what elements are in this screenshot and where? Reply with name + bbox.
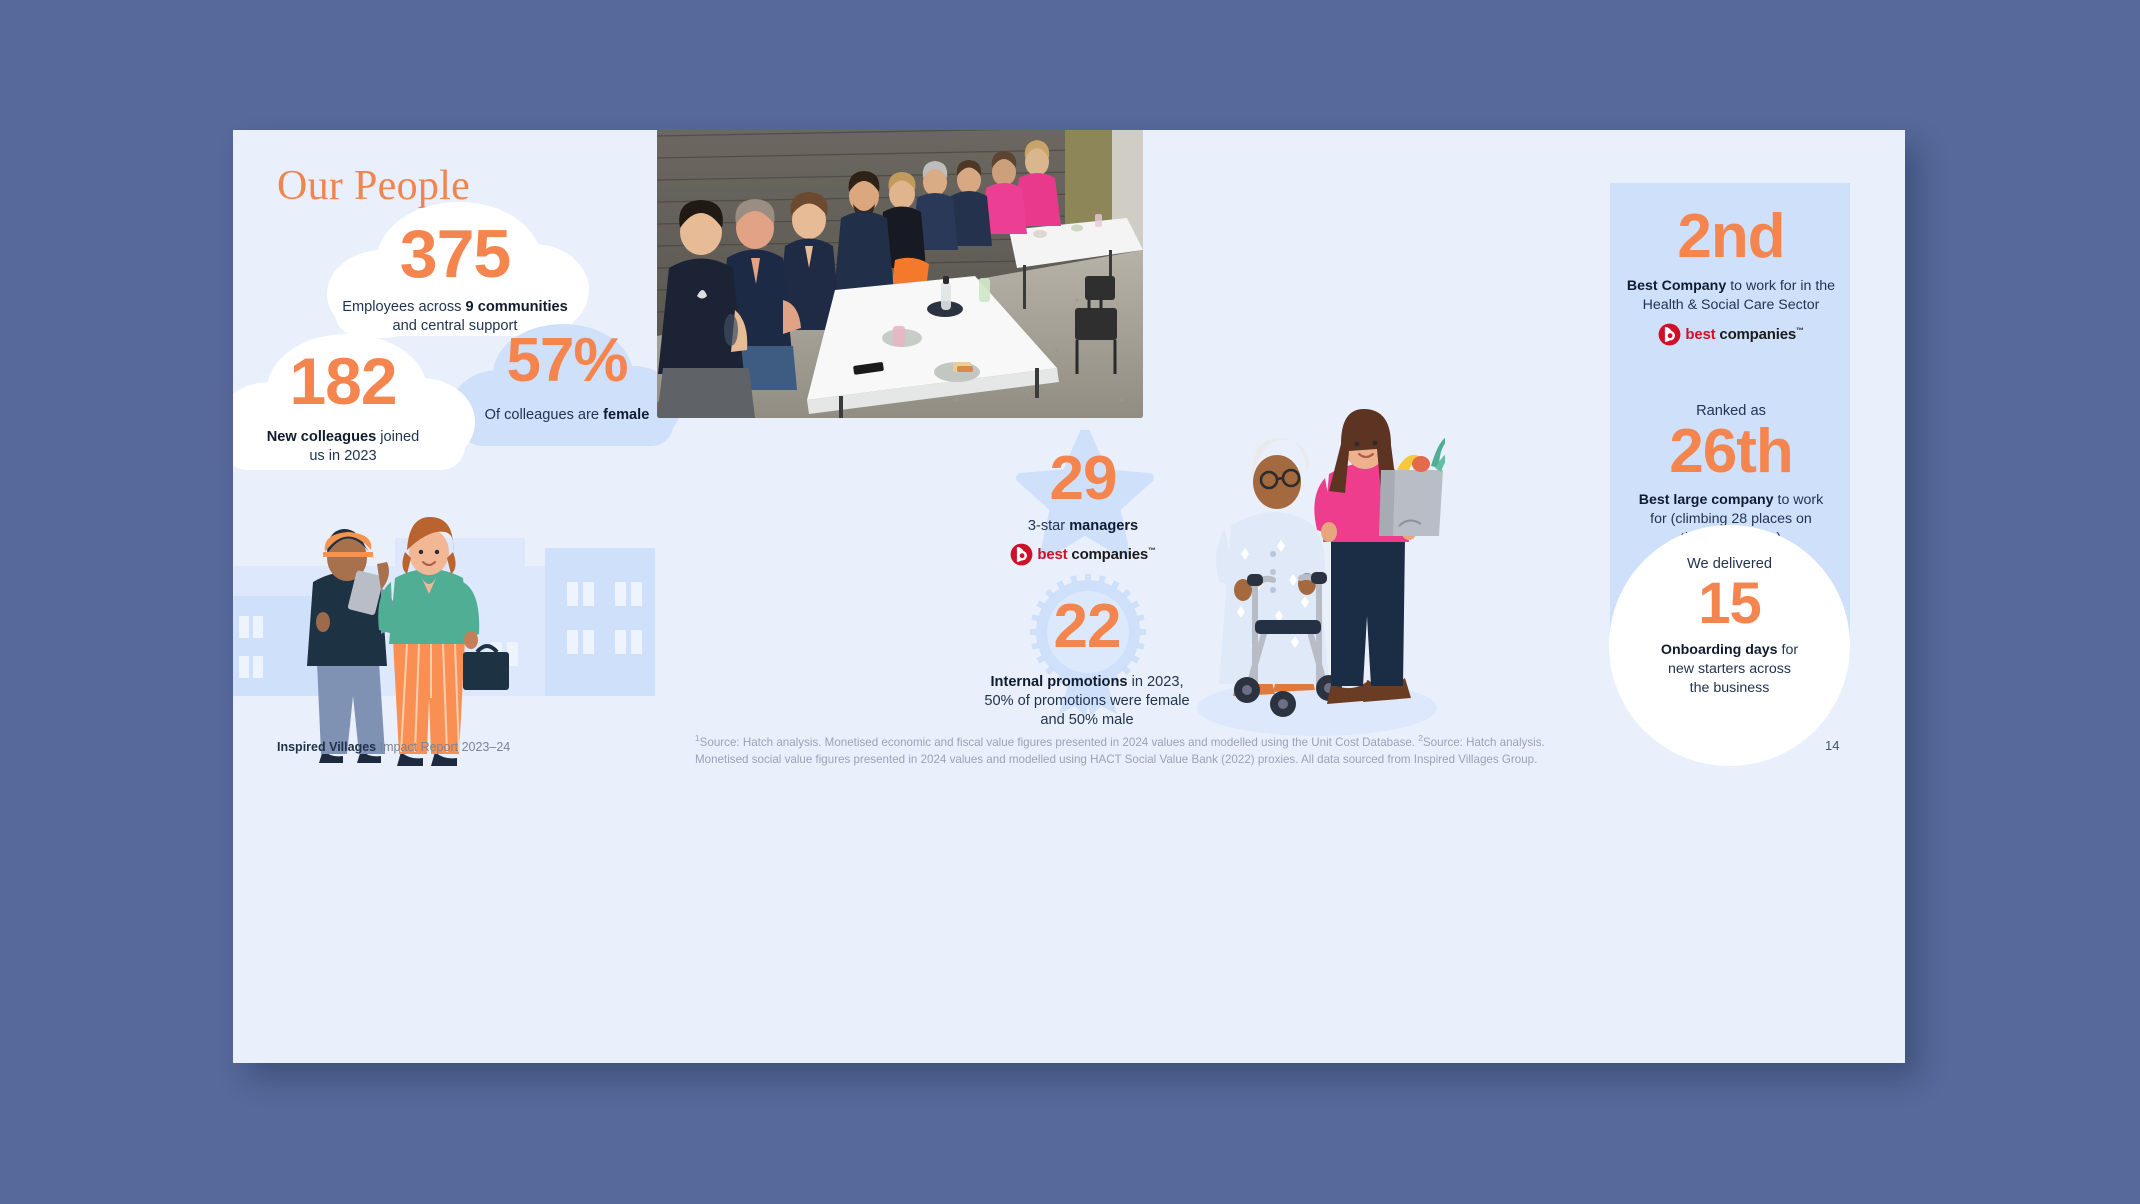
footer-brand-line: Inspired Villages Impact Report 2023–24 <box>277 740 510 754</box>
stat-card-onboarding: We delivered 15 Onboarding days for new … <box>1609 555 1850 698</box>
stat-value-best-company: 2nd <box>1585 208 1877 267</box>
logo-companies: companies <box>1715 326 1796 343</box>
caption-line2: 50% of promotions were female <box>984 693 1189 709</box>
best-companies-mark-icon <box>1658 323 1681 346</box>
caption-post: to work for in the <box>1726 278 1835 294</box>
stat-card-best-company: 2nd Best Company to work for in the Heal… <box>1585 208 1877 346</box>
stat-value-female-pct: 57% <box>451 332 683 391</box>
footer-brand: Inspired Villages <box>277 740 376 754</box>
footnote-sources: 1Source: Hatch analysis. Monetised econo… <box>695 732 1575 769</box>
stat-value-employees: 375 <box>321 222 589 287</box>
illustration-colleagues <box>233 512 655 772</box>
footer-rest: Impact Report 2023–24 <box>376 740 510 754</box>
report-page: Our People 375 Employees across 9 commun… <box>233 130 1905 1063</box>
best-companies-wordmark: best companies™ <box>1685 326 1803 343</box>
caption-pre: Employees across <box>342 299 465 315</box>
caption-post: joined <box>376 429 419 445</box>
logo-tm: ™ <box>1148 546 1156 555</box>
caption-pre: 3-star <box>1028 518 1069 534</box>
stat-caption-female-pct: Of colleagues are female <box>451 406 683 425</box>
caption-bold: female <box>603 407 649 423</box>
stat-value-best-large-company: 26th <box>1585 423 1877 482</box>
best-companies-logo: best companies™ <box>973 543 1193 566</box>
logo-tm: ™ <box>1796 326 1804 335</box>
caption-line2: us in 2023 <box>309 448 376 464</box>
illustration-elderly-person <box>1216 438 1329 696</box>
stat-card-three-star-managers: 29 3-star managers best companies™ <box>973 430 1193 566</box>
stat-value-three-star-managers: 29 <box>973 430 1193 509</box>
caption-bold: managers <box>1069 518 1138 534</box>
caption-bold: 9 communities <box>466 299 568 315</box>
page-number: 14 <box>1825 738 1839 753</box>
caption-bold: Onboarding days <box>1661 642 1778 658</box>
team-photo-image <box>657 130 1143 418</box>
best-companies-wordmark: best companies™ <box>1037 546 1155 563</box>
footnote-text-1: Source: Hatch analysis. Monetised econom… <box>700 736 1419 749</box>
caption-post: for <box>1778 642 1799 658</box>
walker-seat <box>1255 620 1321 634</box>
team-photo <box>657 130 1143 418</box>
stat-caption-best-company: Best Company to work for in the Health &… <box>1585 277 1877 314</box>
caption-line2: Health & Social Care Sector <box>1643 297 1820 313</box>
stat-caption-three-star-managers: 3-star managers <box>973 517 1193 536</box>
caption-post: in 2023, <box>1128 674 1184 690</box>
caption-line2: new starters across <box>1668 661 1791 677</box>
caption-line3: and 50% male <box>1040 712 1133 728</box>
best-companies-mark-icon <box>1010 543 1033 566</box>
stat-card-female-pct: 57% Of colleagues are female <box>451 320 683 470</box>
caption-post: to work <box>1774 492 1824 508</box>
best-companies-logo: best companies™ <box>1585 323 1877 346</box>
caption-bold: Best Company <box>1627 278 1726 294</box>
stat-card-new-colleagues: 182 New colleagues joined us in 2023 <box>233 328 479 490</box>
caption-pre: Of colleagues are <box>485 407 603 423</box>
stat-caption-onboarding: Onboarding days for new starters across … <box>1609 641 1850 697</box>
slide-canvas: Our People 375 Employees across 9 commun… <box>0 0 2140 1204</box>
stat-value-new-colleagues: 182 <box>233 350 479 413</box>
illustration-care-scene <box>1185 408 1445 738</box>
caption-bold: Best large company <box>1639 492 1774 508</box>
stat-caption-new-colleagues: New colleagues joined us in 2023 <box>233 428 479 467</box>
logo-best: best <box>1037 546 1067 563</box>
logo-companies: companies <box>1067 546 1148 563</box>
logo-best: best <box>1685 326 1715 343</box>
stat-value-onboarding: 15 <box>1609 576 1850 631</box>
caption-bold: New colleagues <box>267 429 377 445</box>
illustration-person-hardhat <box>307 529 397 763</box>
caption-bold: Internal promotions <box>990 674 1127 690</box>
caption-line3: the business <box>1690 680 1770 696</box>
illustration-carer <box>1314 409 1445 704</box>
